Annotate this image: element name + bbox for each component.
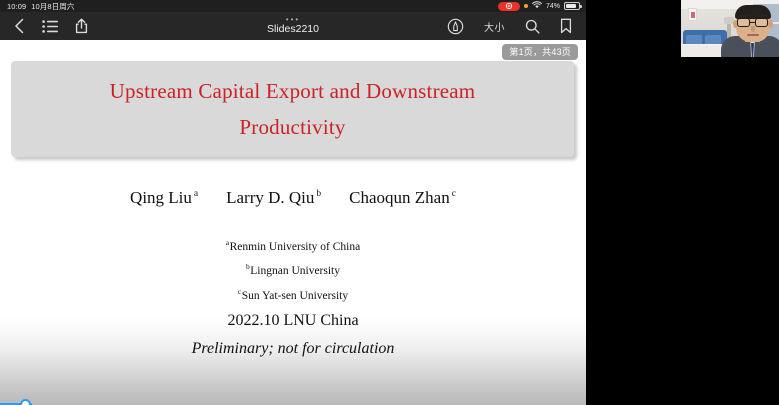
author-1: Qing Liua bbox=[130, 188, 198, 208]
overflow-dots-icon[interactable]: ••• bbox=[286, 17, 300, 22]
slide-title-line-1: Upstream Capital Export and Downstream bbox=[110, 73, 476, 109]
back-chevron-icon[interactable] bbox=[14, 18, 25, 34]
affiliation-3: cSun Yat-sen University bbox=[0, 282, 586, 306]
affiliation-3-marker: c bbox=[238, 287, 241, 296]
affiliation-1-marker: a bbox=[226, 238, 229, 247]
screen-record-pill-icon bbox=[498, 2, 520, 11]
presenter-nose bbox=[751, 26, 755, 32]
presenter-video-feed[interactable] bbox=[681, 0, 779, 57]
text-size-button[interactable]: 大小 bbox=[484, 19, 505, 34]
search-icon[interactable] bbox=[525, 19, 540, 34]
presenter-eyebrow-left bbox=[738, 15, 750, 17]
slide-venue: 2022.10 LNU China bbox=[0, 312, 586, 330]
bookmark-icon[interactable] bbox=[560, 18, 572, 34]
reader-toolbar: ••• Slides2210 大小 bbox=[0, 12, 586, 40]
screen: 10:09 10月8日周六 74% bbox=[0, 0, 779, 405]
status-time: 10:09 bbox=[7, 2, 26, 11]
video-presenter bbox=[723, 2, 779, 57]
table-of-contents-icon[interactable] bbox=[42, 20, 58, 33]
author-2-marker: b bbox=[316, 189, 321, 199]
status-date: 10月8日周六 bbox=[31, 1, 74, 12]
presenter-eyebrow-right bbox=[756, 15, 768, 17]
affiliation-1: aRenmin University of China bbox=[0, 233, 586, 257]
author-2-name: Larry D. Qiu bbox=[226, 188, 314, 207]
author-list: Qing LiuaLarry D. QiubChaoqun Zhanc bbox=[0, 188, 586, 208]
affiliation-2: bLingnan University bbox=[0, 257, 586, 281]
annotate-pen-icon[interactable] bbox=[447, 18, 464, 35]
orange-privacy-dot-icon bbox=[524, 4, 528, 8]
toolbar-right-group: 大小 bbox=[447, 18, 586, 35]
page-scrubber[interactable] bbox=[0, 399, 46, 405]
page-scrubber-knob[interactable] bbox=[20, 399, 31, 405]
document-title[interactable]: Slides2210 bbox=[267, 23, 319, 35]
slide-title-box: Upstream Capital Export and Downstream P… bbox=[11, 61, 574, 157]
author-3-name: Chaoqun Zhan bbox=[349, 188, 450, 207]
affiliation-2-name: Lingnan University bbox=[250, 265, 340, 277]
status-bar-right: 74% bbox=[498, 1, 586, 11]
affiliation-3-name: Sun Yat-sen University bbox=[242, 289, 348, 301]
author-1-name: Qing Liu bbox=[130, 188, 192, 207]
battery-percent-label: 74% bbox=[546, 3, 560, 10]
slide-title-line-2: Productivity bbox=[239, 109, 345, 145]
video-wall-picture bbox=[688, 8, 697, 21]
slide-note: Preliminary; not for circulation bbox=[0, 340, 586, 358]
battery-icon bbox=[564, 2, 580, 10]
author-2: Larry D. Qiub bbox=[226, 188, 321, 208]
author-3-marker: c bbox=[452, 189, 456, 199]
affiliation-list: aRenmin University of China bLingnan Uni… bbox=[0, 233, 586, 306]
slide-canvas[interactable]: 第1页，共43页 Upstream Capital Export and Dow… bbox=[0, 40, 586, 405]
author-3: Chaoqun Zhanc bbox=[349, 188, 456, 208]
status-bar-left: 10:09 10月8日周六 bbox=[0, 1, 75, 12]
author-1-marker: a bbox=[194, 189, 198, 199]
status-bar: 10:09 10月8日周六 74% bbox=[0, 0, 586, 12]
share-icon[interactable] bbox=[75, 18, 88, 34]
toolbar-left-group bbox=[0, 18, 88, 34]
pdf-reader-pane: 10:09 10月8日周六 74% bbox=[0, 0, 586, 405]
affiliation-1-name: Renmin University of China bbox=[230, 241, 361, 253]
slide-page-1: Upstream Capital Export and Downstream P… bbox=[0, 40, 586, 370]
wifi-icon bbox=[532, 1, 542, 11]
